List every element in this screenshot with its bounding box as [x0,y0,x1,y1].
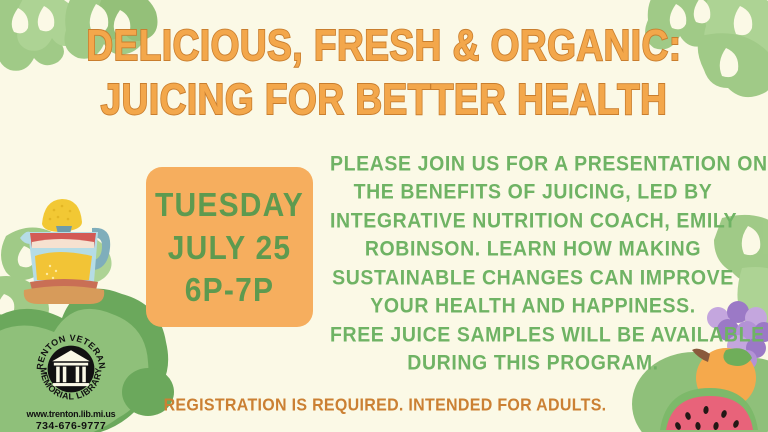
date-day: TUESDAY [155,183,304,231]
library-logo-block: TRENTON VETERANS MEMORIAL LIBRARY www.tr… [10,330,132,432]
description-line-6: YOUR HEALTH AND HAPPINESS. [330,291,736,322]
library-logo-icon: TRENTON VETERANS MEMORIAL LIBRARY [32,330,110,408]
title-line-2: JUICING FOR BETTER HEALTH [0,76,768,123]
event-date-badge: TUESDAY JULY 25 6P-7P [146,167,313,327]
description-line-4: ROBINSON. LEARN HOW MAKING [330,234,736,265]
event-description: PLEASE JOIN US FOR A PRESENTATION ON THE… [330,150,736,378]
library-phone[interactable]: 734-676-9777 [10,420,132,432]
date-date: JULY 25 [168,225,292,273]
page-title: DELICIOUS, FRESH & ORGANIC: JUICING FOR … [0,22,768,116]
date-time: 6P-7P [185,268,274,316]
description-line-7: FREE JUICE SAMPLES WILL BE AVAILABLE [330,319,736,350]
description-line-8: DURING THIS PROGRAM. [330,348,736,379]
registration-note: REGISTRATION IS REQUIRED. INTENDED FOR A… [150,396,620,416]
poster-canvas: DELICIOUS, FRESH & ORGANIC: JUICING FOR … [0,0,768,432]
library-website[interactable]: www.trenton.lib.mi.us [10,409,132,420]
description-line-3: INTEGRATIVE NUTRITION COACH, EMILY [330,206,736,237]
title-line-1: DELICIOUS, FRESH & ORGANIC: [0,22,768,69]
description-line-1: PLEASE JOIN US FOR A PRESENTATION ON [330,149,736,180]
description-line-5: SUSTAINABLE CHANGES CAN IMPROVE [330,262,736,293]
description-line-2: THE BENEFITS OF JUICING, LED BY [330,177,736,208]
